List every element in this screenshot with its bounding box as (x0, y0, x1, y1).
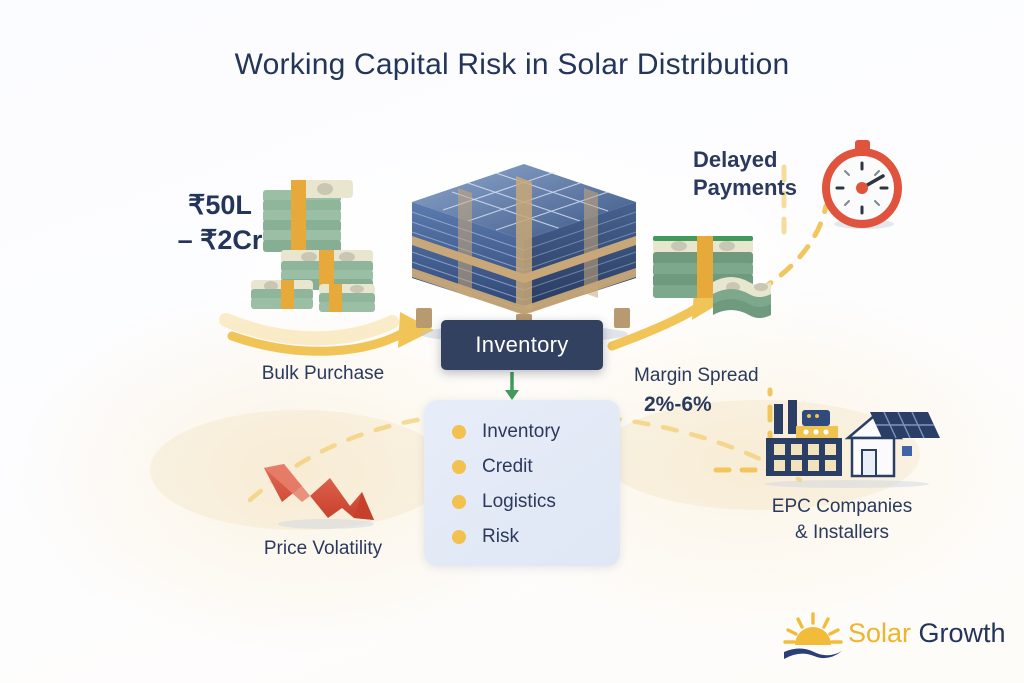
price-range-line1: ₹50L (160, 188, 280, 223)
list-item: Risk (424, 519, 620, 554)
infographic-canvas: Working Capital Risk in Solar Distributi… (0, 0, 1024, 683)
epc-companies-label: EPC Companies & Installers (742, 494, 942, 545)
bullet-dot-icon (452, 495, 466, 509)
delayed-payments-line1: Delayed (693, 146, 818, 174)
factory-and-house-icon (752, 396, 942, 488)
brand-word-solar: Solar (848, 618, 911, 648)
stopwatch-icon (815, 138, 910, 233)
page-title: Working Capital Risk in Solar Distributi… (0, 48, 1024, 82)
list-item: Inventory (424, 414, 620, 449)
list-item-label: Inventory (482, 421, 560, 443)
cost-breakdown-card: Inventory Credit Logistics Risk (424, 400, 620, 566)
epc-companies-line2: & Installers (742, 520, 942, 546)
inventory-badge-label: Inventory (475, 332, 568, 358)
epc-companies-line1: EPC Companies (742, 494, 942, 520)
price-range-label: ₹50L – ₹2Cr (160, 188, 280, 257)
inventory-to-card-arrow (505, 372, 519, 400)
bulk-purchase-label: Bulk Purchase (238, 362, 408, 386)
solar-panel-pallet-icon (398, 158, 650, 340)
bullet-dot-icon (452, 460, 466, 474)
brand-logo: Solar Growth (782, 610, 1014, 666)
sun-over-waves-icon (782, 612, 844, 662)
list-item: Credit (424, 449, 620, 484)
brand-logo-text: Solar Growth (848, 618, 1006, 649)
price-volatility-label: Price Volatility (238, 537, 408, 561)
list-item-label: Logistics (482, 491, 556, 513)
list-item-label: Credit (482, 456, 533, 478)
margin-spread-label: Margin Spread (634, 364, 784, 388)
bullet-dot-icon (452, 425, 466, 439)
inventory-badge: Inventory (441, 320, 603, 370)
cash-bundle-icon (645, 230, 795, 332)
delayed-payments-line2: Payments (693, 174, 818, 202)
brand-word-growth: Growth (919, 618, 1006, 648)
bullet-dot-icon (452, 530, 466, 544)
list-item: Logistics (424, 484, 620, 519)
price-range-line2: – ₹2Cr (160, 223, 280, 258)
declining-zigzag-arrow-icon (258, 462, 386, 532)
delayed-payments-label: Delayed Payments (693, 146, 818, 202)
list-item-label: Risk (482, 526, 519, 548)
